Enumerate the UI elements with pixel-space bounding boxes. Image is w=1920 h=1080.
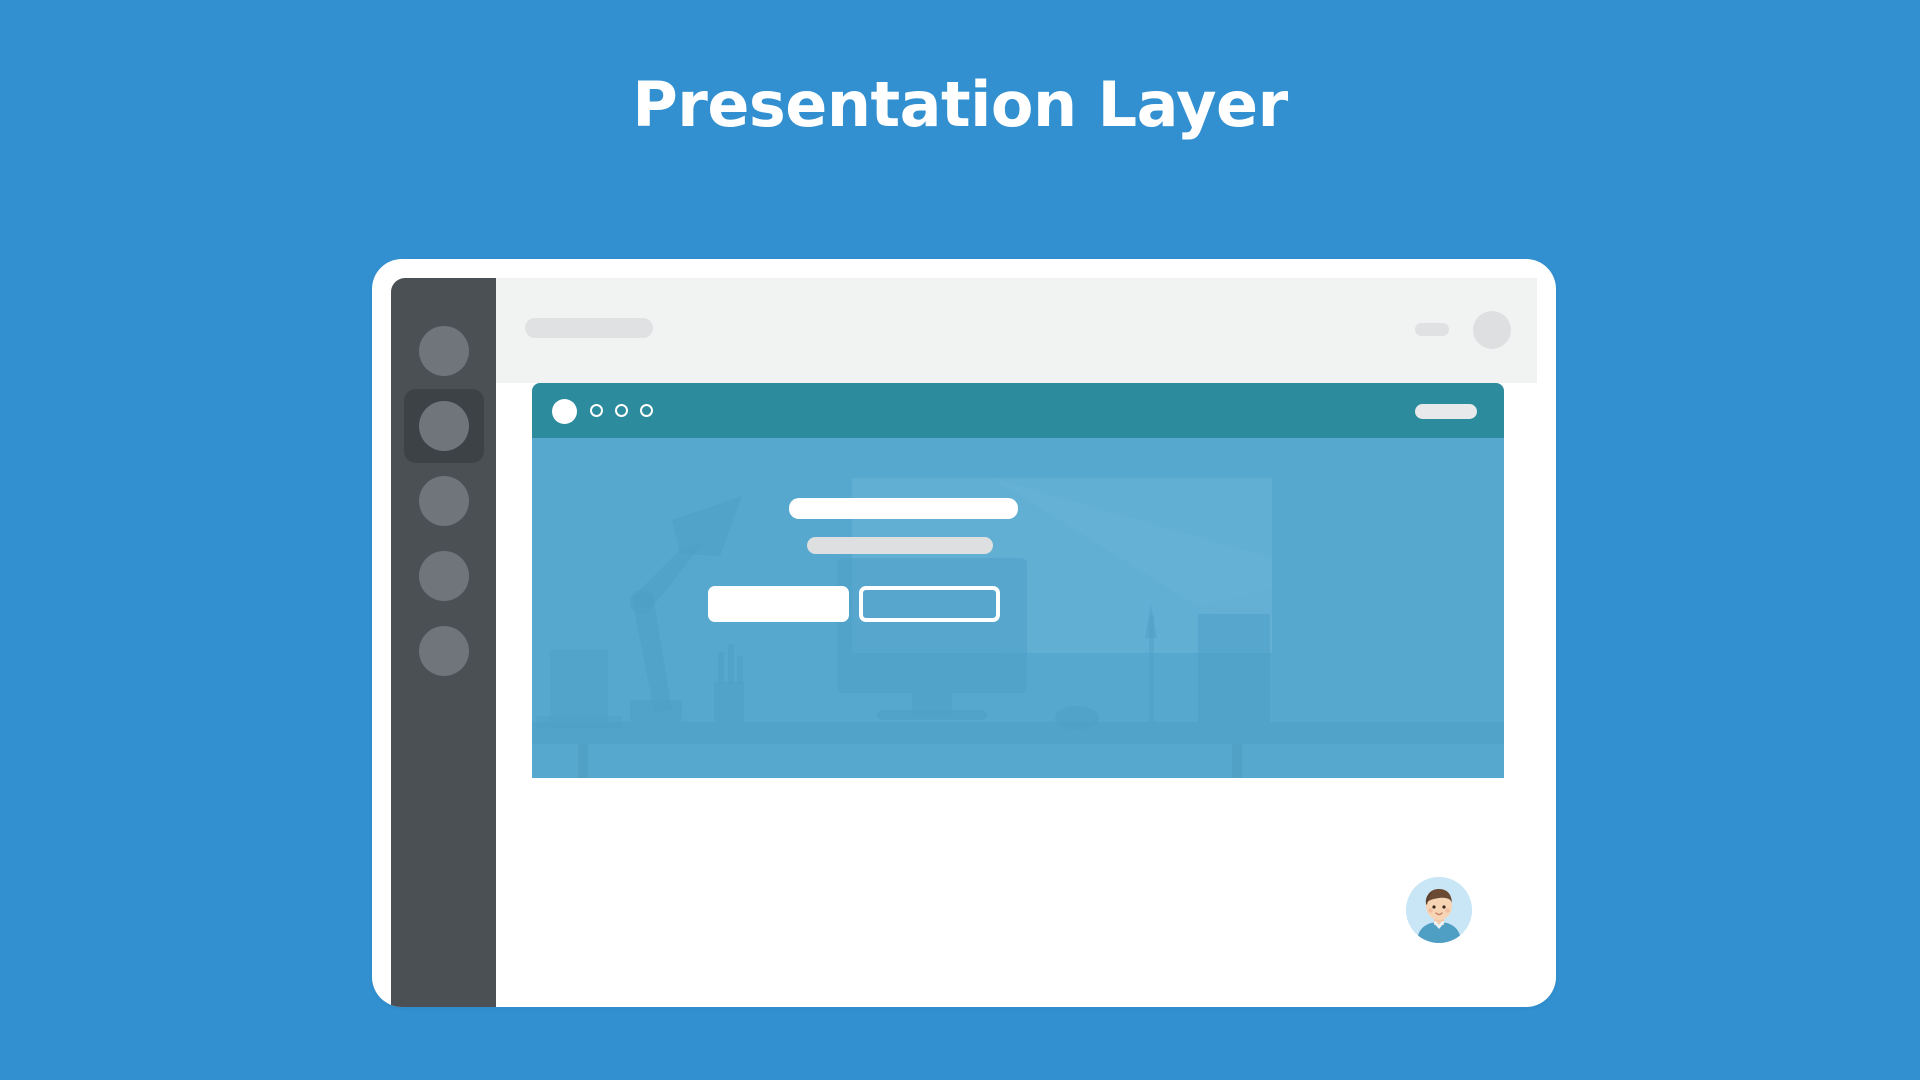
window-dot-2[interactable] (590, 404, 603, 417)
minimize-bar[interactable] (1415, 323, 1449, 336)
hero-content (532, 438, 1504, 778)
window-dot-3[interactable] (615, 404, 628, 417)
app-header-bar (496, 278, 1537, 383)
active-window-dot[interactable] (552, 399, 577, 424)
avatar-person-icon (1406, 877, 1472, 943)
app-navigation-sidebar (391, 278, 496, 1007)
hero-secondary-button[interactable] (859, 586, 1000, 622)
hero-headline-bar (789, 498, 1018, 519)
hero-subheadline-bar (807, 537, 993, 554)
user-profile-avatar[interactable] (1406, 877, 1472, 943)
window-dot-4[interactable] (640, 404, 653, 417)
address-bar-pill[interactable] (1415, 404, 1477, 419)
sidebar-item-circle-nav-icon-1[interactable] (419, 326, 469, 376)
sidebar-item-circle-nav-icon-4[interactable] (419, 551, 469, 601)
sidebar-item-circle-nav-icon-3[interactable] (419, 476, 469, 526)
logo-placeholder-bar (525, 318, 653, 338)
header-avatar-circle[interactable] (1473, 311, 1511, 349)
browser-window (532, 383, 1504, 778)
sidebar-item-circle-nav-icon-2[interactable] (419, 401, 469, 451)
browser-toolbar (532, 383, 1504, 438)
hero-section (532, 438, 1504, 778)
page-title: Presentation Layer (0, 68, 1920, 141)
hero-primary-button[interactable] (708, 586, 849, 622)
sidebar-item-circle-nav-icon-5[interactable] (419, 626, 469, 676)
page-canvas: Presentation Layer (0, 0, 1920, 1080)
